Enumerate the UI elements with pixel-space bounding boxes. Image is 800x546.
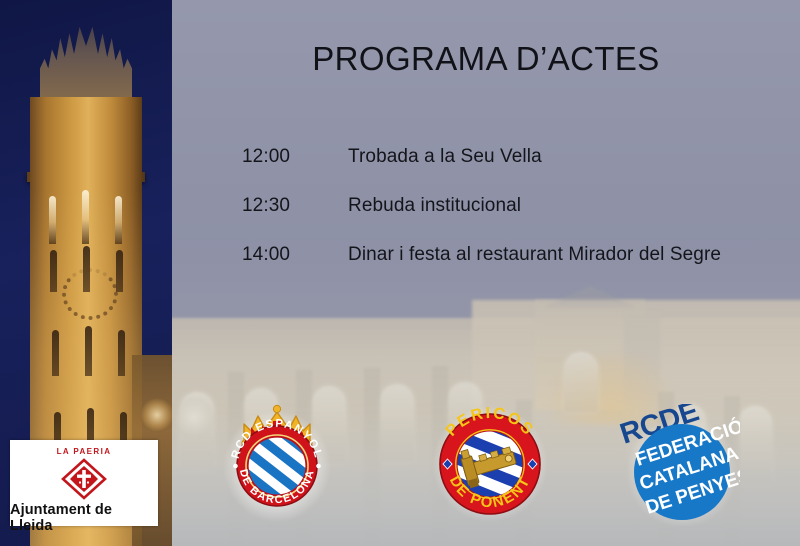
logo-ajuntament-lleida: LA PAERIA Ajuntament de Lleida — [10, 440, 158, 526]
schedule-row: 14:00 Dinar i festa al restaurant Mirado… — [242, 244, 782, 266]
logo-pericos-de-ponent: PERICOS DE PONENT — [432, 404, 548, 524]
page-title: PROGRAMA D’ACTES — [172, 40, 800, 78]
tower-window — [49, 196, 56, 244]
tower-window — [50, 250, 57, 292]
tower-window — [116, 250, 123, 292]
logo-rcd-espanyol: RCD ESPANYOL DE BARCELONA — [218, 396, 336, 530]
tower-window — [52, 330, 59, 376]
tower-window — [82, 190, 89, 244]
tower-window — [85, 326, 92, 376]
clock-mark — [62, 268, 118, 320]
schedule-description: Trobada a la Seu Vella — [348, 146, 542, 168]
paeria-name: Ajuntament de Lleida — [10, 502, 158, 534]
schedule-description: Rebuda institucional — [348, 195, 521, 217]
tower-window — [115, 196, 122, 244]
poster-canvas: PROGRAMA D’ACTES 12:00 Trobada a la Seu … — [0, 0, 800, 546]
logo-rcde-federacio-catalana-penyes: RCDE FEDERACIÓ CATALANA DE PENYES — [616, 404, 740, 526]
schedule-row: 12:00 Trobada a la Seu Vella — [242, 146, 782, 168]
schedule-row: 12:30 Rebuda institucional — [242, 195, 782, 217]
schedule-time: 12:30 — [242, 195, 348, 217]
tower-window — [118, 330, 125, 376]
schedule-list: 12:00 Trobada a la Seu Vella 12:30 Rebud… — [242, 146, 782, 266]
schedule-description: Dinar i festa al restaurant Mirador del … — [348, 244, 721, 266]
paeria-diamond-icon — [61, 458, 107, 500]
rose-window — [140, 398, 172, 432]
paeria-label: LA PAERIA — [57, 447, 112, 456]
schedule-time: 12:00 — [242, 146, 348, 168]
schedule-time: 14:00 — [242, 244, 348, 266]
